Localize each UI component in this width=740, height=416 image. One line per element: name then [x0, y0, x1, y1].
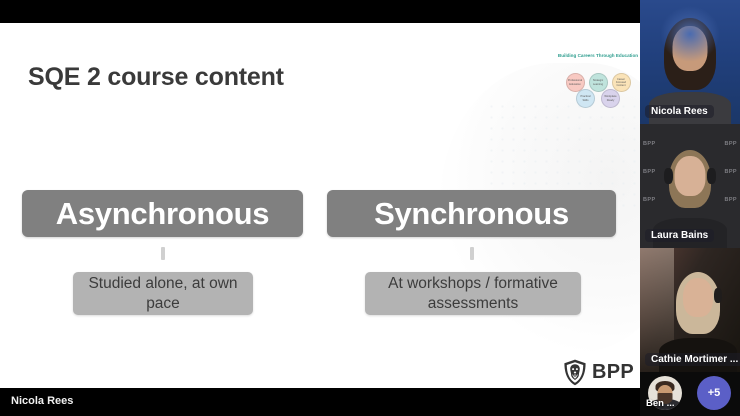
pillar-label: Asynchronous [56, 198, 269, 229]
infographic-node: Workplace Ready [601, 89, 620, 108]
participant-name-label: Cathie Mortimer ... [645, 353, 740, 366]
shared-content-footer: Nicola Rees [0, 388, 640, 416]
participant-filmstrip[interactable]: Nicola Rees BPP BPP BPP BPP BPP BPP Laur… [640, 0, 740, 416]
pillar-box-synchronous: Synchronous [327, 190, 616, 237]
connector-synchronous [470, 247, 474, 260]
active-speaker-name: Nicola Rees [11, 395, 73, 407]
pillar-box-asynchronous: Asynchronous [22, 190, 303, 237]
detail-box-asynchronous: Studied alone, at own pace [73, 272, 253, 315]
participant-overflow-row[interactable]: Ben ... +5 [640, 372, 740, 416]
pillar-label: Synchronous [374, 198, 569, 229]
overflow-avatar-name: Ben ... [646, 398, 675, 409]
participant-tile-nicola-rees[interactable]: Nicola Rees [640, 0, 740, 124]
detail-label: Studied alone, at own pace [73, 274, 253, 314]
participant-tile-laura-bains[interactable]: BPP BPP BPP BPP BPP BPP Laura Bains [640, 124, 740, 248]
detail-label: At workshops / formative assessments [365, 274, 581, 314]
connector-asynchronous [161, 247, 165, 260]
slide-title: SQE 2 course content [28, 63, 284, 92]
presentation-slide[interactable]: SQE 2 course content Building Careers Th… [0, 23, 640, 388]
detail-box-synchronous: At workshops / formative assessments [365, 272, 581, 315]
bpp-logo: BPP [563, 359, 634, 386]
corner-infographic-title: Building Careers Through Education [556, 53, 640, 59]
corner-infographic-row-bottom: Practical Skills Workplace Ready [556, 89, 640, 108]
meeting-screen: SQE 2 course content Building Careers Th… [0, 0, 740, 416]
participant-tile-cathie-mortimer[interactable]: Cathie Mortimer ... [640, 248, 740, 372]
participant-name-label: Nicola Rees [645, 105, 714, 118]
infographic-node: Practical Skills [576, 89, 595, 108]
lion-shield-icon [563, 359, 587, 386]
participant-name-label: Laura Bains [645, 229, 714, 242]
more-participants-badge[interactable]: +5 [697, 376, 731, 410]
bpp-wordmark: BPP [592, 361, 634, 384]
shared-content-region[interactable]: SQE 2 course content Building Careers Th… [0, 0, 640, 416]
corner-infographic: Building Careers Through Education Profe… [556, 51, 640, 113]
